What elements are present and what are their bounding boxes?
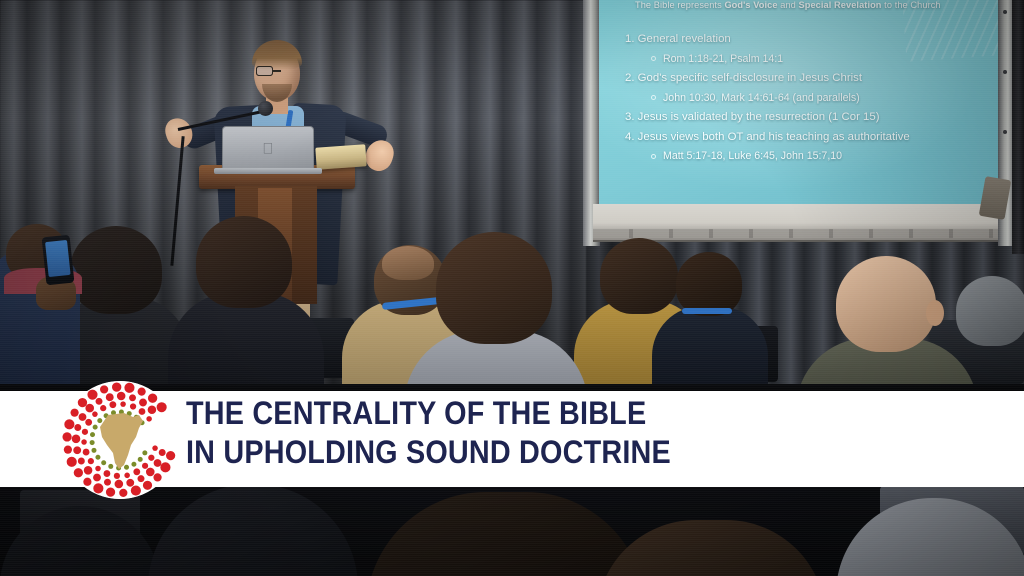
slide-sub-text: Matt 5:17-18, Luke 6:45, John 15:7,10 — [663, 150, 842, 162]
slide-item-text: God's specific self-disclosure in Jesus … — [638, 72, 862, 84]
bullet-ring-icon — [651, 56, 656, 61]
slide-header-emphasis-2: Special Revelation — [799, 0, 882, 10]
glasses-icon — [256, 66, 298, 76]
slide-item-number: 4. — [625, 131, 635, 143]
lower-third-title: THE CENTRALITY OF THE BIBLE IN UPHOLDING… — [186, 394, 725, 472]
screen-support-post — [1012, 0, 1024, 254]
slide-item-text: General revelation — [638, 33, 731, 45]
audience-member-head — [956, 276, 1024, 346]
slide-list-item: 3. Jesus is validated by the resurrectio… — [625, 108, 1008, 128]
slide-header-suffix: to the Church — [882, 0, 941, 10]
slide-header-mid: and — [778, 0, 799, 10]
laptop-base — [214, 168, 322, 174]
slide-sub-item: John 10:30, Mark 14:61-64 (and parallels… — [625, 89, 1008, 109]
audience-member-head — [436, 232, 552, 344]
audience-member-head-bald — [836, 256, 936, 352]
slide-item-number: 3. — [625, 111, 635, 123]
slide-sub-item: Matt 5:17-18, Luke 6:45, John 15:7,10 — [625, 147, 1008, 167]
audience-member-head — [196, 216, 292, 308]
slide-header-prefix: The Bible represents — [635, 0, 724, 10]
video-frame: The Bible represents God's Voice and Spe… — [0, 0, 1024, 576]
title-line-1: THE CENTRALITY OF THE BIBLE — [186, 394, 671, 433]
slide-header-emphasis-1: God's Voice — [724, 0, 777, 10]
audience-member-ear — [926, 300, 944, 326]
bullet-ring-icon — [651, 95, 656, 100]
microphone-icon — [258, 101, 273, 116]
slide-sub-text: Rom 1:18-21, Psalm 14:1 — [663, 53, 783, 65]
apple-logo-icon:  — [262, 141, 273, 156]
slide-list-item: 1. General revelation — [625, 30, 1008, 50]
audience-member-head — [70, 226, 162, 314]
audience-member-head — [676, 252, 742, 316]
projection-screen-rig: The Bible represents God's Voice and Spe… — [583, 0, 1024, 254]
screen-bottom-panel — [593, 204, 1013, 242]
slide-list-item: 2. God's specific self-disclosure in Jes… — [625, 69, 1008, 89]
audience-member-head — [600, 238, 678, 314]
smartphone-icon — [42, 235, 75, 286]
africa-dots-logo — [61, 381, 179, 499]
open-bible — [315, 144, 366, 169]
slide-item-number: 2. — [625, 72, 635, 84]
attendee-lanyard — [682, 308, 732, 314]
slide-item-text: Jesus views both OT and his teaching as … — [638, 131, 910, 143]
slide-list-item: 4. Jesus views both OT and his teaching … — [625, 128, 1008, 148]
slide-sub-item: Rom 1:18-21, Psalm 14:1 — [625, 50, 1008, 70]
bullet-ring-icon — [651, 154, 656, 159]
slide-body: 1. General revelation Rom 1:18-21, Psalm… — [625, 30, 1008, 167]
macbook-laptop:  — [222, 126, 314, 170]
slide-sub-text: John 10:30, Mark 14:61-64 (and parallels… — [663, 92, 860, 104]
projected-slide: The Bible represents God's Voice and Spe… — [599, 0, 1008, 208]
slide-item-text: Jesus is validated by the resurrection (… — [638, 111, 880, 123]
slide-header: The Bible represents God's Voice and Spe… — [635, 0, 1005, 10]
slide-item-number: 1. — [625, 33, 635, 45]
title-line-2: IN UPHOLDING SOUND DOCTRINE — [186, 433, 671, 472]
audience-member-bald-patch — [382, 246, 434, 280]
